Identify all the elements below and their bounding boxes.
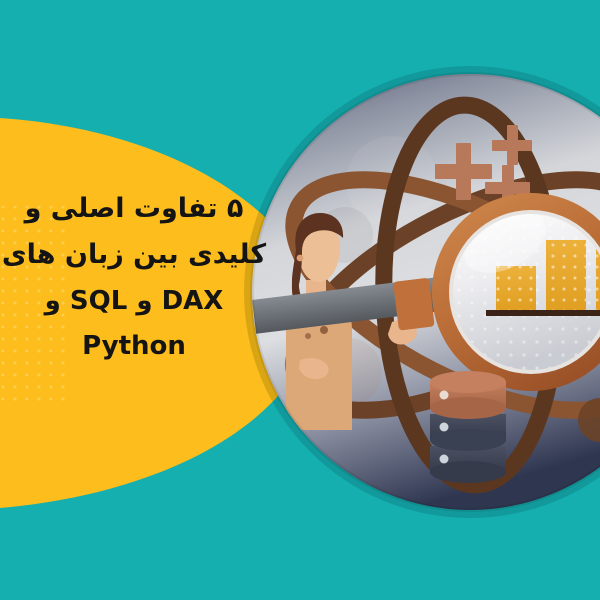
dot-pattern: [0, 206, 74, 402]
db-layer-bottom: [430, 446, 506, 483]
chart-baseline: [486, 310, 600, 316]
database-icon: [430, 371, 506, 483]
db-layer-top: [430, 371, 506, 419]
db-layer-middle: [430, 414, 506, 451]
poster-canvas: ۵ تفاوت اصلی و کلیدی بین زبان های DAX و …: [0, 0, 600, 600]
poster-artwork: [0, 0, 600, 600]
